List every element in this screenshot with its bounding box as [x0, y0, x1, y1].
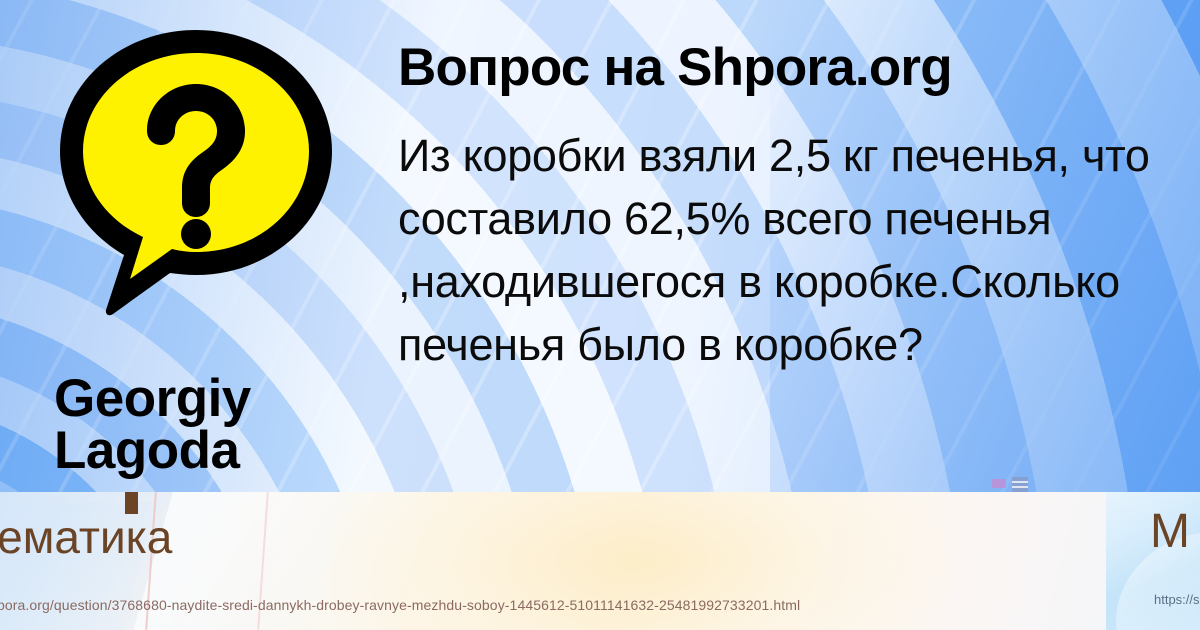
page-title: Вопрос на Shpora.org	[398, 40, 1188, 96]
card-left-column: Georgiy Lagoda	[46, 18, 376, 488]
question-text: Из коробки взяли 2,5 кг печенья, что сос…	[398, 124, 1188, 376]
adjacent-card-preview[interactable]: М https://s	[1106, 492, 1200, 630]
bottom-preview-strip: атематика shpora.org/question/3768680-na…	[0, 492, 1200, 630]
render-artifact-fragment	[992, 477, 1038, 495]
question-share-card: Georgiy Lagoda Вопрос на Shpora.org Из к…	[0, 0, 1200, 500]
share-card-screenshot: Georgiy Lagoda Вопрос на Shpora.org Из к…	[0, 0, 1200, 630]
adjacent-url[interactable]: https://s	[1154, 592, 1200, 607]
question-speech-bubble-icon	[46, 18, 346, 318]
adjacent-subject-letter: М	[1150, 504, 1190, 559]
subject-label: атематика	[0, 510, 172, 564]
card-right-column: Вопрос на Shpora.org Из коробки взяли 2,…	[398, 40, 1188, 376]
author-name: Georgiy Lagoda	[54, 373, 384, 477]
question-url[interactable]: shpora.org/question/3768680-naydite-sred…	[0, 597, 800, 613]
